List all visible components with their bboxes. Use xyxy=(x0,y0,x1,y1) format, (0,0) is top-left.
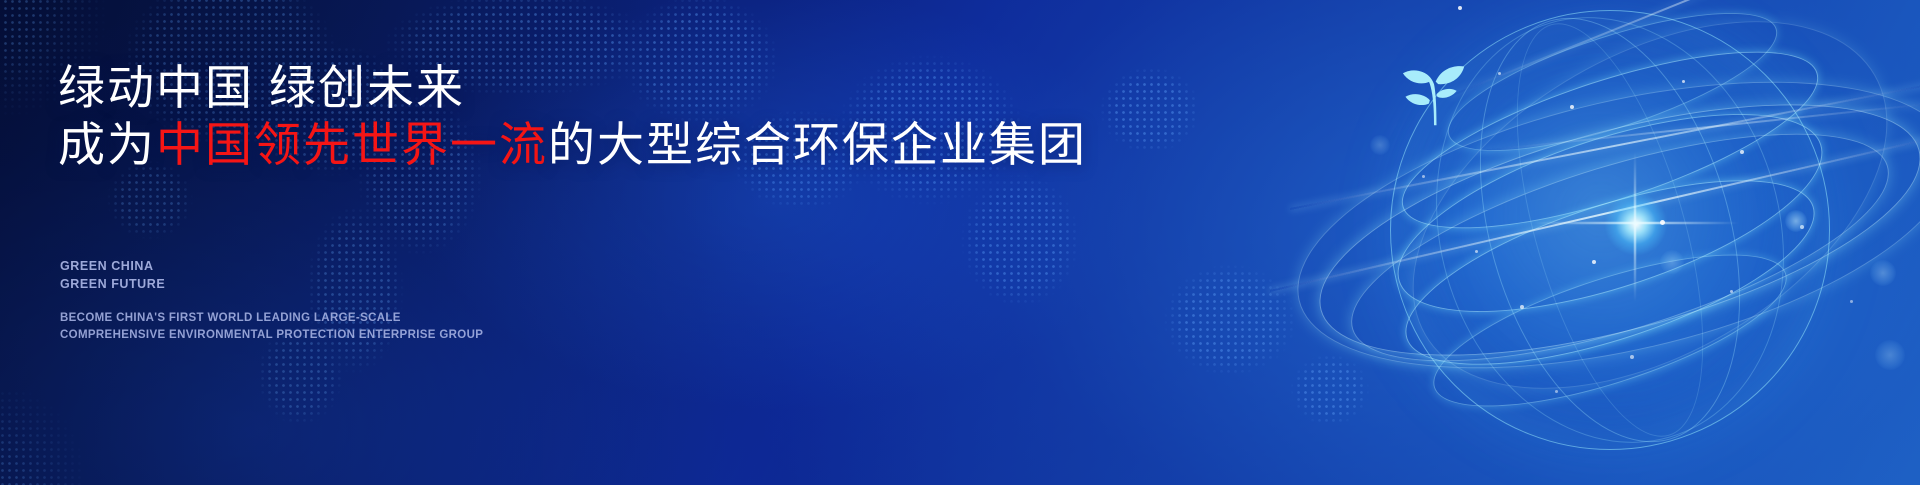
particle xyxy=(1570,105,1574,109)
subtitle-english: BECOME CHINA'S FIRST WORLD LEADING LARGE… xyxy=(60,310,483,343)
particle xyxy=(1850,300,1853,303)
light-streak xyxy=(1290,82,1920,209)
orbital-ring xyxy=(1328,87,1912,409)
globe-glow xyxy=(1390,10,1830,450)
particle xyxy=(1555,390,1558,393)
sprout-leaf-icon xyxy=(1392,48,1476,132)
particle xyxy=(1800,225,1804,229)
particle xyxy=(1475,250,1478,253)
particle xyxy=(1458,6,1462,10)
globe-graphic xyxy=(1330,0,1920,485)
subtitle-english-line-2: COMPREHENSIVE ENVIRONMENTAL PROTECTION E… xyxy=(60,327,483,344)
orbital-ring xyxy=(1350,0,1920,465)
globe-latitude-ring xyxy=(1386,142,1835,403)
particle xyxy=(1740,150,1744,154)
bokeh-particle xyxy=(1785,210,1807,232)
headline-line-1: 绿动中国 绿创未来 xyxy=(58,62,1058,115)
bokeh-particle xyxy=(1660,250,1684,274)
slogan-english-line-2: GREEN FUTURE xyxy=(60,276,165,294)
light-streak xyxy=(1270,133,1920,292)
bokeh-particle xyxy=(1370,135,1390,155)
globe-sphere-outline xyxy=(1390,10,1830,450)
slogan-english-line-1: GREEN CHINA xyxy=(60,258,165,276)
subtitle-english-line-1: BECOME CHINA'S FIRST WORLD LEADING LARGE… xyxy=(60,310,483,327)
particle xyxy=(1422,175,1425,178)
headline-line-2-suffix: 的大型综合环保企业集团 xyxy=(548,118,1087,171)
globe-latitude-ring xyxy=(1376,73,1845,353)
particle xyxy=(1520,305,1524,309)
light-streak xyxy=(1450,0,1920,97)
globe-meridian xyxy=(1479,4,1741,457)
bokeh-particle xyxy=(1870,260,1896,286)
particle xyxy=(1730,290,1733,293)
globe-meridian xyxy=(1435,0,1786,473)
particle xyxy=(1660,220,1665,225)
light-streak xyxy=(1480,101,1920,152)
orbital-ring xyxy=(1270,28,1920,422)
globe-latitude-ring xyxy=(1418,223,1802,437)
hero-banner: 绿动中国 绿创未来 成为中国领先世界一流的大型综合环保企业集团 GREEN CH… xyxy=(0,0,1920,485)
slogan-english: GREEN CHINA GREEN FUTURE xyxy=(60,258,165,294)
bokeh-particle xyxy=(1875,340,1905,370)
orbital-ring xyxy=(1295,53,1920,407)
headline-line-2-highlight: 中国领先世界一流 xyxy=(156,118,548,171)
particle xyxy=(1498,72,1501,75)
headline-line-2: 成为中国领先世界一流的大型综合环保企业集团 xyxy=(58,119,1058,172)
particle xyxy=(1592,260,1596,264)
light-burst xyxy=(1604,192,1668,256)
headline-block: 绿动中国 绿创未来 成为中国领先世界一流的大型综合环保企业集团 xyxy=(58,62,1058,171)
globe-meridian xyxy=(1387,0,1833,484)
headline-line-2-prefix: 成为 xyxy=(58,118,156,171)
globe-latitude-ring xyxy=(1434,0,1791,179)
hex-accent-bottom-left xyxy=(0,390,100,485)
particle xyxy=(1682,80,1685,83)
globe-latitude-ring xyxy=(1384,16,1836,265)
particle xyxy=(1630,355,1634,359)
